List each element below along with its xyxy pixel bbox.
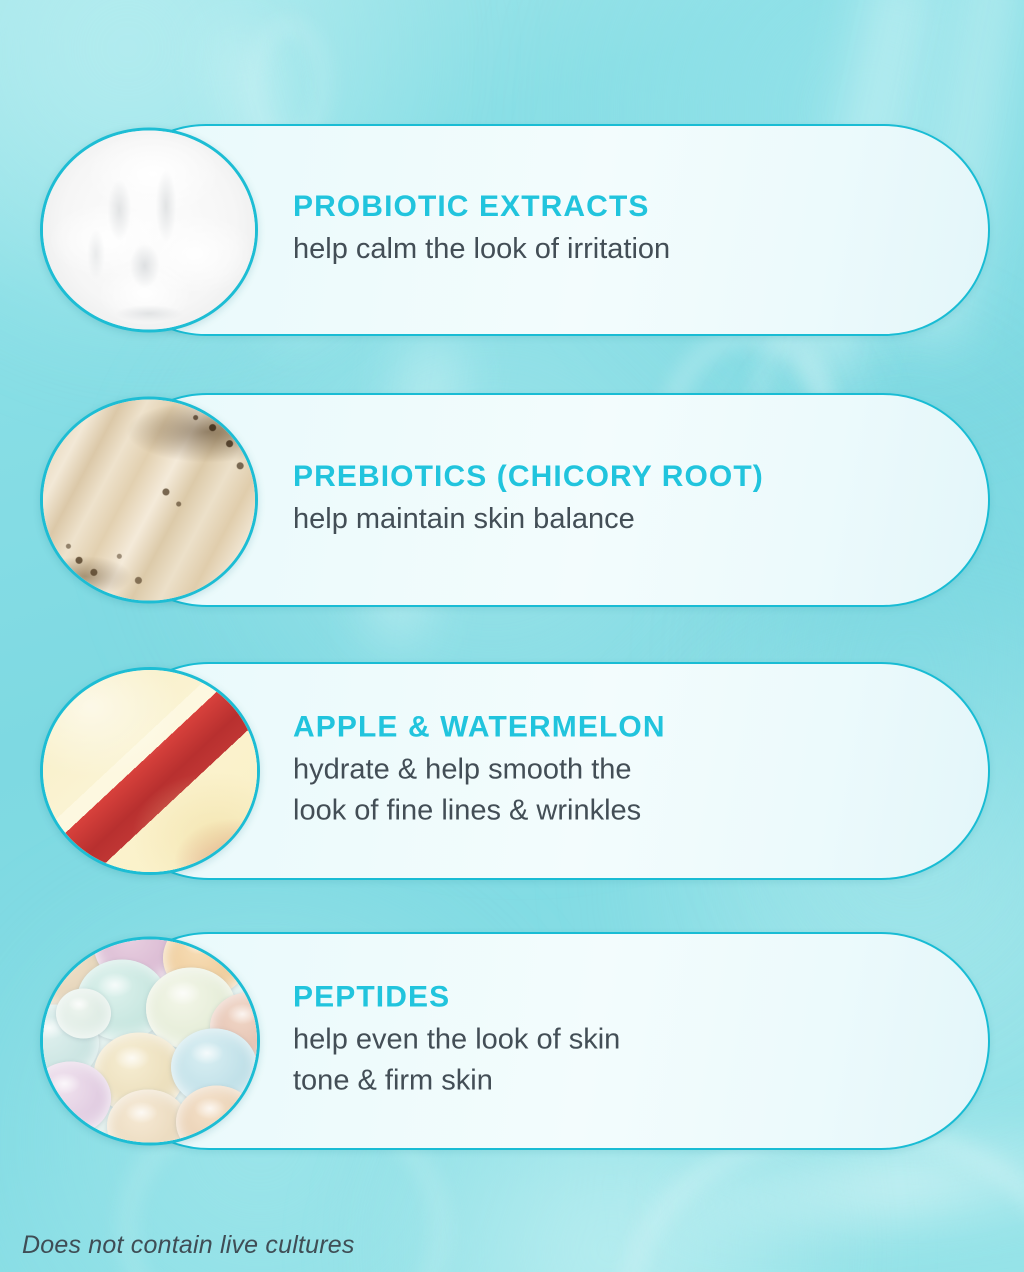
panel-title: PROBIOTIC EXTRACTS <box>293 190 950 223</box>
panel-description: help even the look of skin tone & firm s… <box>293 1019 950 1101</box>
panel-description-line: look of fine lines & wrinkles <box>293 791 950 832</box>
apple-texture <box>43 670 257 872</box>
chicory-root-image <box>40 397 258 604</box>
ingredient-panel-prebiotics-chicory-root: PREBIOTICS (CHICORY ROOT) help maintain … <box>40 393 990 607</box>
panel-text-block: PREBIOTICS (CHICORY ROOT) help maintain … <box>293 460 950 540</box>
panel-description-line: hydrate & help smooth the <box>293 749 950 790</box>
panel-title: APPLE & WATERMELON <box>293 710 950 743</box>
ingredient-panel-apple-watermelon: APPLE & WATERMELON hydrate & help smooth… <box>40 662 990 880</box>
ingredient-panel-probiotic-extracts: PROBIOTIC EXTRACTS help calm the look of… <box>40 124 990 336</box>
panel-description: help calm the look of irritation <box>293 229 950 270</box>
cream-texture <box>43 131 255 330</box>
ingredient-panel-peptides: PEPTIDES help even the look of skin tone… <box>40 932 990 1150</box>
panel-text-block: PROBIOTIC EXTRACTS help calm the look of… <box>293 190 950 270</box>
root-texture <box>43 400 255 601</box>
panel-title: PREBIOTICS (CHICORY ROOT) <box>293 460 950 493</box>
yogurt-cream-swirl-image <box>40 128 258 333</box>
panel-title: PEPTIDES <box>293 980 950 1013</box>
panel-description: help maintain skin balance <box>293 499 950 540</box>
apple-slices-image <box>40 667 260 875</box>
panel-description-line: help calm the look of irritation <box>293 229 950 270</box>
panel-description-line: help even the look of skin <box>293 1019 950 1060</box>
footnote-disclaimer: Does not contain live cultures <box>22 1231 355 1260</box>
ingredient-panel-list: PROBIOTIC EXTRACTS help calm the look of… <box>0 0 1024 1272</box>
panel-text-block: PEPTIDES help even the look of skin tone… <box>293 980 950 1101</box>
gel-beads-image <box>40 937 260 1146</box>
panel-description-line: tone & firm skin <box>293 1061 950 1102</box>
panel-description-line: help maintain skin balance <box>293 499 950 540</box>
gel-bead <box>176 1086 257 1146</box>
panel-description: hydrate & help smooth the look of fine l… <box>293 749 950 831</box>
bead-texture <box>43 940 257 1143</box>
panel-text-block: APPLE & WATERMELON hydrate & help smooth… <box>293 710 950 831</box>
